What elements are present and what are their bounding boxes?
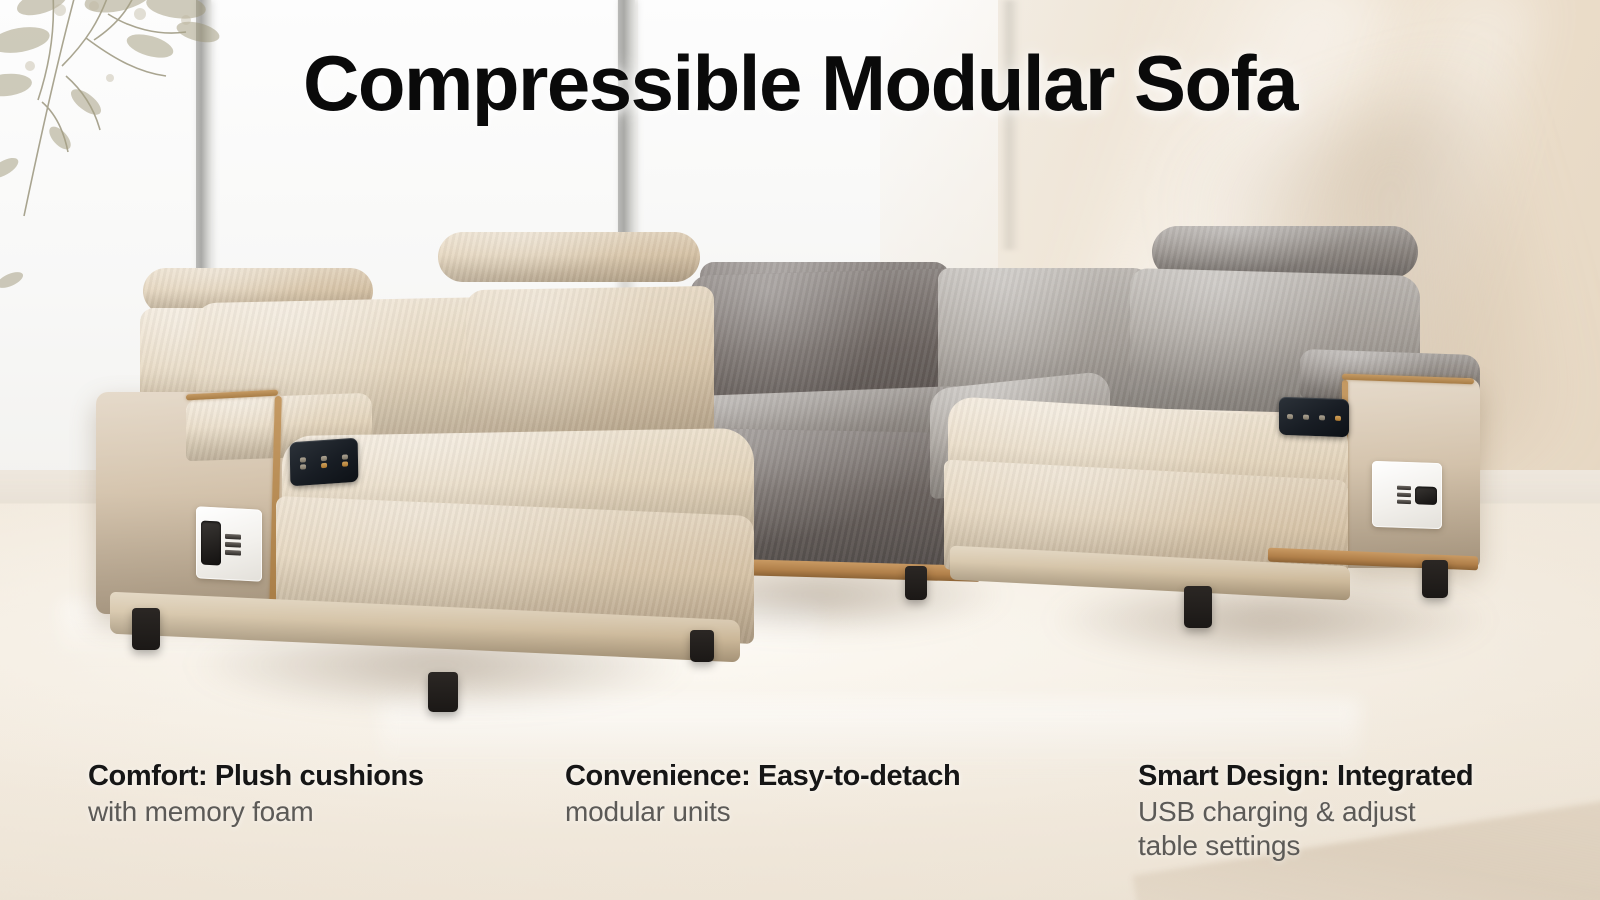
usb-port-a-icon[interactable] <box>225 533 241 539</box>
caption-convenience-headline: Convenience: Easy-to-detach <box>565 760 960 792</box>
caption-comfort: Comfort: Plush cushions with memory foam <box>88 760 424 829</box>
right-foot-front <box>1184 586 1212 628</box>
product-hero-image: Compressible Modular Sofa Comfort: Plush… <box>0 0 1600 900</box>
left-backrest-cushion-3 <box>466 286 714 450</box>
right-control-button-mode-icon[interactable] <box>1335 415 1341 420</box>
page-title: Compressible Modular Sofa <box>0 38 1600 129</box>
usb-port-b-icon[interactable] <box>225 541 241 547</box>
control-button-up-icon[interactable] <box>321 456 327 461</box>
feature-captions: Comfort: Plush cushions with memory foam… <box>0 752 1600 900</box>
right-usb-port-a-icon[interactable] <box>1397 486 1411 490</box>
right-usb-port-group[interactable] <box>1397 486 1411 504</box>
right-usb-port-c-icon[interactable] <box>1397 500 1411 504</box>
power-socket-icon[interactable] <box>201 521 221 566</box>
usb-port-c-icon[interactable] <box>225 549 241 555</box>
caption-convenience: Convenience: Easy-to-detach modular unit… <box>565 760 960 829</box>
caption-comfort-headline: Comfort: Plush cushions <box>88 760 424 792</box>
right-usb-port-b-icon[interactable] <box>1397 493 1411 497</box>
right-control-button-plus-icon[interactable] <box>1319 415 1325 420</box>
left-foot-back <box>428 672 458 712</box>
left-foot-mid <box>690 630 714 662</box>
control-button-light-icon[interactable] <box>321 463 327 468</box>
caption-smart-design-subline-2: table settings <box>1138 829 1473 862</box>
right-power-socket-icon[interactable] <box>1415 486 1437 505</box>
left-foot-front <box>132 608 160 650</box>
right-control-button-minus-icon[interactable] <box>1303 414 1309 419</box>
left-power-outlet[interactable] <box>196 506 262 581</box>
right-control-panel[interactable] <box>1279 397 1349 437</box>
right-foot-back <box>1422 560 1448 598</box>
control-button-display-icon[interactable] <box>342 454 348 459</box>
control-button-recline-icon[interactable] <box>342 461 348 466</box>
control-button-power-icon[interactable] <box>300 457 306 462</box>
left-control-panel[interactable] <box>290 438 359 487</box>
usb-port-group[interactable] <box>225 533 241 555</box>
right-power-outlet[interactable] <box>1372 461 1442 529</box>
right-control-button-power-icon[interactable] <box>1287 414 1293 419</box>
control-button-down-icon[interactable] <box>300 464 306 469</box>
caption-smart-design-subline-1: USB charging & adjust <box>1138 795 1473 828</box>
caption-smart-design: Smart Design: Integrated USB charging & … <box>1138 760 1473 862</box>
caption-smart-design-headline: Smart Design: Integrated <box>1138 760 1473 792</box>
caption-comfort-subline: with memory foam <box>88 795 424 828</box>
caption-convenience-subline: modular units <box>565 795 960 828</box>
center-foot-right <box>905 566 927 600</box>
left-headrest-bolster-2 <box>438 232 700 282</box>
